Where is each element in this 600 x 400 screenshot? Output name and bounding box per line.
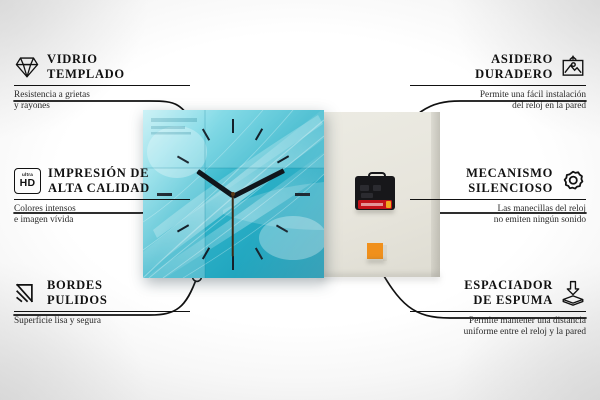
feature-desc-line1: Las manecillas del reloj xyxy=(410,204,586,216)
mechanism-body xyxy=(355,176,395,210)
feature-divider xyxy=(410,85,586,86)
feature-title-line1: VIDRIO xyxy=(47,52,125,67)
feature-desc-espaciador: Permite mantener una distancia uniforme … xyxy=(410,316,586,339)
feature-title-line2: ALTA CALIDAD xyxy=(48,181,150,196)
battery-label xyxy=(361,203,383,206)
feature-bordes-pulidos: BORDES PULIDOS Superficie lisa y segura xyxy=(14,278,190,327)
diagonal-lines-icon xyxy=(14,280,40,306)
feature-title-line2: SILENCIOSO xyxy=(466,181,553,196)
badge-hd-label: HD xyxy=(20,178,36,189)
feature-desc-asidero: Permite una fácil instalación del reloj … xyxy=(410,90,586,113)
feature-divider xyxy=(14,311,190,312)
infographic-canvas: VIDRIO TEMPLADO Resistencia a grietas y … xyxy=(0,0,600,400)
hour-marker-12 xyxy=(232,119,234,133)
feature-divider xyxy=(14,85,190,86)
foam-spacer-sample xyxy=(367,243,383,259)
hanging-picture-frame-icon xyxy=(560,54,586,80)
feature-desc-line1: Superficie lisa y segura xyxy=(14,316,190,328)
feature-desc-line2: y rayones xyxy=(14,101,190,113)
feature-divider xyxy=(410,199,586,200)
feature-title-line1: ASIDERO xyxy=(475,52,553,67)
mechanism-battery xyxy=(358,200,392,209)
feature-title-line2: DE ESPUMA xyxy=(464,293,553,308)
feature-desc-line2: no emiten ningún sonido xyxy=(410,215,586,227)
gear-icon xyxy=(560,168,586,194)
mechanism-detail-2 xyxy=(373,185,381,191)
feature-vidrio-templado: VIDRIO TEMPLADO Resistencia a grietas y … xyxy=(14,52,190,113)
hour-marker-6 xyxy=(232,256,234,270)
arrow-onto-layer-icon xyxy=(560,280,586,306)
feature-desc-line2: uniforme entre el reloj y la pared xyxy=(410,327,586,339)
foam-spacer-shadow xyxy=(367,259,385,263)
clock-center-pin xyxy=(231,192,235,196)
feature-title-impresion: IMPRESIÓN DE ALTA CALIDAD xyxy=(48,166,150,195)
mechanism-detail-1 xyxy=(360,185,369,191)
feature-title-mecanismo: MECANISMO SILENCIOSO xyxy=(466,166,553,195)
feature-desc-bordes: Superficie lisa y segura xyxy=(14,316,190,328)
feature-espaciador-de-espuma: ESPACIADOR DE ESPUMA Permite mantener un… xyxy=(410,278,586,339)
feature-title-line2: TEMPLADO xyxy=(47,67,125,82)
diamond-icon xyxy=(14,54,40,80)
feature-desc-mecanismo: Las manecillas del reloj no emiten ningú… xyxy=(410,204,586,227)
feature-desc-line2: e imagen vívida xyxy=(14,215,190,227)
feature-title-line1: BORDES xyxy=(47,278,107,293)
mechanism-detail-3 xyxy=(361,193,373,198)
feature-title-espaciador: ESPACIADOR DE ESPUMA xyxy=(464,278,553,307)
feature-title-bordes: BORDES PULIDOS xyxy=(47,278,107,307)
feature-title-line2: DURADERO xyxy=(475,67,553,82)
feature-title-line1: IMPRESIÓN DE xyxy=(48,166,150,181)
feature-mecanismo-silencioso: MECANISMO SILENCIOSO Las manecillas del … xyxy=(410,166,586,227)
feature-desc-line1: Permite mantener una distancia xyxy=(410,316,586,328)
hour-marker-3 xyxy=(295,193,310,196)
feature-title-vidrio-templado: VIDRIO TEMPLADO xyxy=(47,52,125,81)
feature-desc-line1: Resistencia a grietas xyxy=(14,90,190,102)
feature-desc-vidrio-templado: Resistencia a grietas y rayones xyxy=(14,90,190,113)
feature-divider xyxy=(14,199,190,200)
feature-desc-line1: Permite una fácil instalación xyxy=(410,90,586,102)
feature-title-line2: PULIDOS xyxy=(47,293,107,308)
feature-divider xyxy=(410,311,586,312)
clock-second-hand xyxy=(232,195,234,257)
ultra-hd-badge-icon: ultra HD xyxy=(14,168,41,194)
feature-desc-line1: Colores intensos xyxy=(14,204,190,216)
feature-title-line1: ESPACIADOR xyxy=(464,278,553,293)
feature-impresion-alta-calidad: ultra HD IMPRESIÓN DE ALTA CALIDAD Color… xyxy=(14,166,190,227)
feature-desc-line2: del reloj en la pared xyxy=(410,101,586,113)
feature-title-line1: MECANISMO xyxy=(466,166,553,181)
feature-title-asidero: ASIDERO DURADERO xyxy=(475,52,553,81)
feature-asidero-duradero: ASIDERO DURADERO Permite una fácil insta… xyxy=(410,52,586,113)
battery-positive-terminal xyxy=(386,201,391,208)
feature-desc-impresion: Colores intensos e imagen vívida xyxy=(14,204,190,227)
clock-mechanism xyxy=(355,172,395,210)
